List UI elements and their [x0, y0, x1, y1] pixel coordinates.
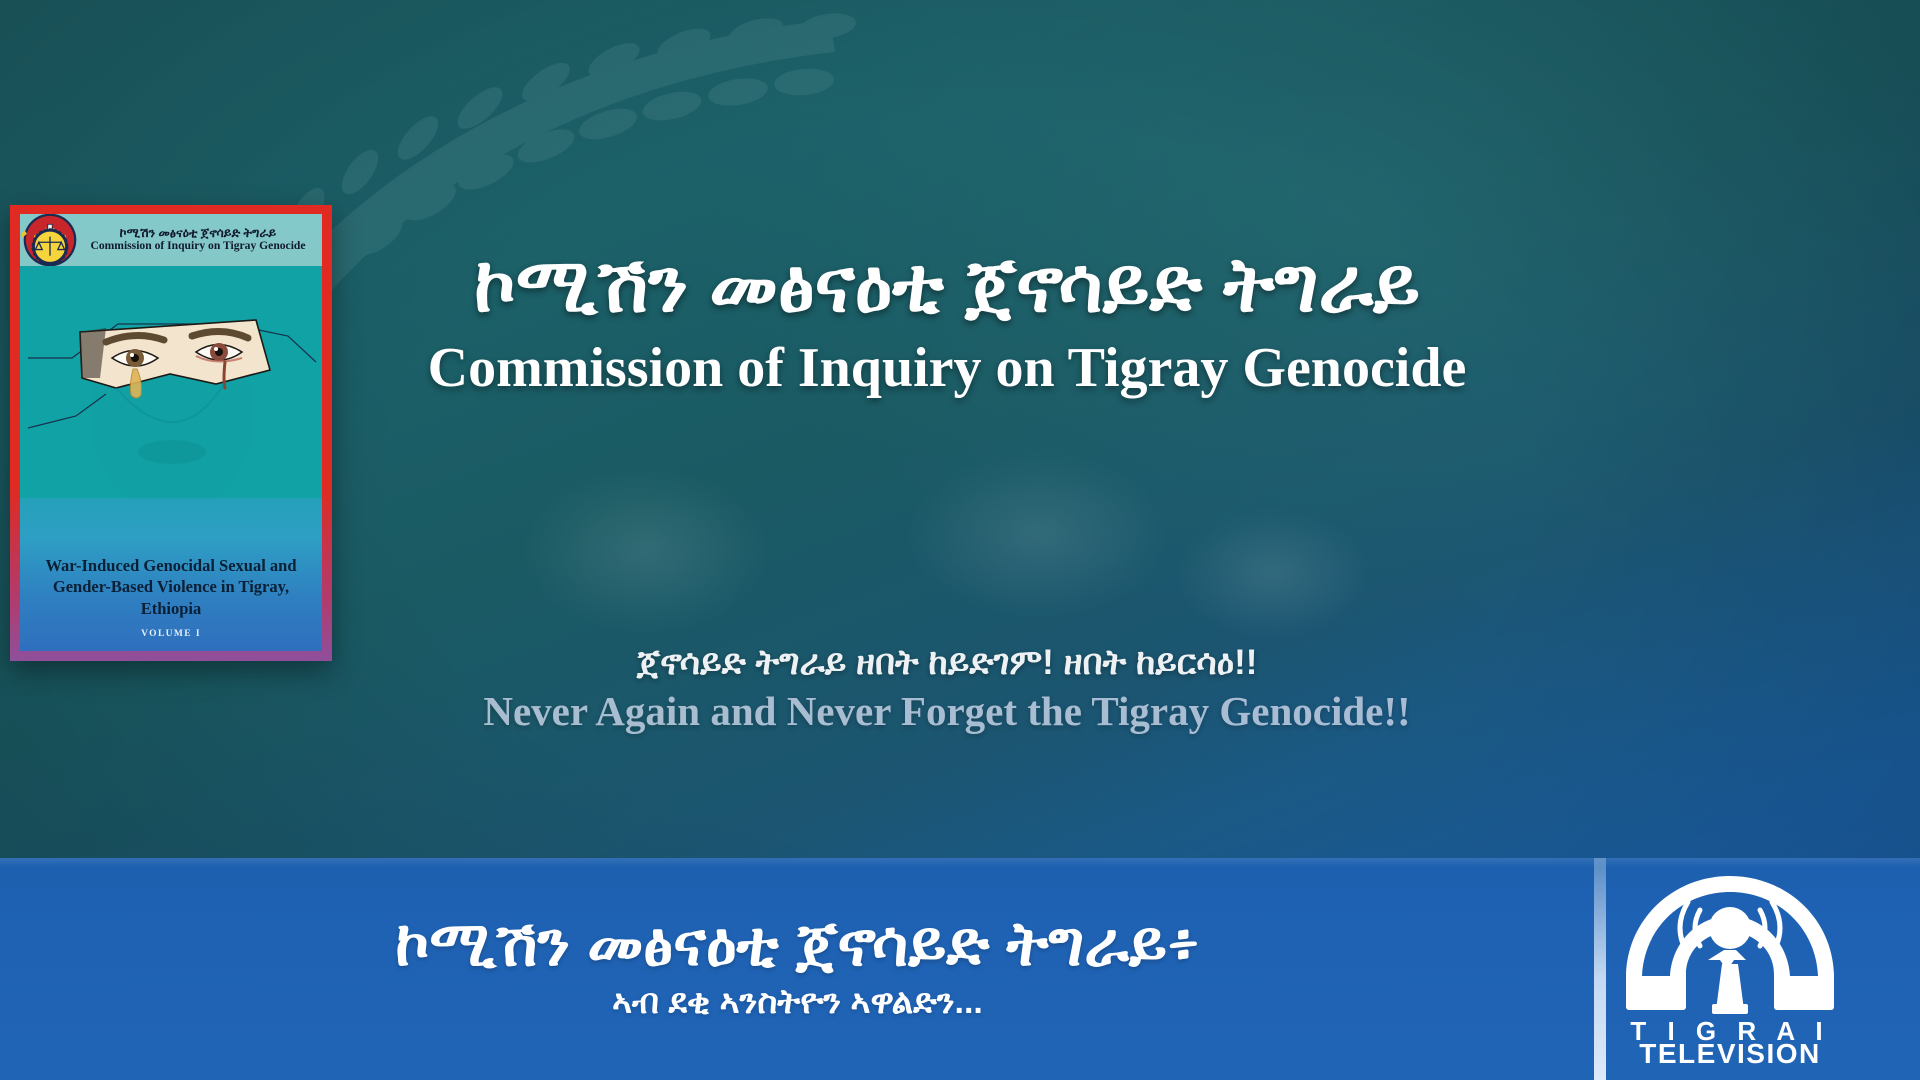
book-banner: ኮሚሽን መፅናዕቲ ጀኖሳይድ ትግራይ Commission of Inqu… — [20, 214, 322, 266]
vertical-divider — [1594, 858, 1606, 1080]
slogan-tigrinya: ጀኖሳይድ ትግራይ ዘበት ከይድገም! ዘበት ከይርሳዕ!! — [352, 645, 1542, 680]
broadcast-frame: ኮሚሽን መፅናዕቲ ጀኖሳይድ ትግራይ Commission of Inqu… — [0, 0, 1920, 1080]
report-book-cover: ኮሚሽን መፅናዕቲ ጀኖሳይድ ትግራይ Commission of Inqu… — [10, 205, 332, 661]
commission-emblem-icon — [22, 214, 78, 268]
caption-line-1: ኮሚሽን መፅናዕቲ ጀኖሳይድ ትግራይ፥ — [395, 912, 1199, 977]
book-cover-illustration — [20, 266, 322, 498]
book-banner-tigrinya: ኮሚሽን መፅናዕቲ ጀኖሳይድ ትግራይ — [76, 227, 320, 240]
main-heading: ኮሚሽን መፅናዕቲ ጀኖሳይድ ትግራይ Commission of Inqu… — [352, 248, 1542, 396]
logo-text-television: TELEVISION — [1639, 1038, 1820, 1066]
lower-third-bar: ኮሚሽን መፅናዕቲ ጀኖሳይድ ትግራይ፥ ኣብ ደቂ ኣንስትዮን ኣዋልድ… — [0, 858, 1920, 1080]
caption-block: ኮሚሽን መፅናዕቲ ጀኖሳይድ ትግራይ፥ ኣብ ደቂ ኣንስትዮን ኣዋልድ… — [0, 858, 1595, 1080]
tigrai-television-logo: T I G R A I TELEVISION — [1612, 870, 1848, 1066]
book-volume: VOLUME I — [20, 629, 322, 639]
heading-tigrinya: ኮሚሽን መፅናዕቲ ጀኖሳይድ ትግራይ — [352, 248, 1542, 324]
slogan-english: Never Again and Never Forget the Tigray … — [352, 691, 1542, 732]
caption-line-2: ኣብ ደቂ ኣንስትዮን ኣዋልድን... — [612, 985, 983, 1021]
slogan-block: ጀኖሳይድ ትግራይ ዘበት ከይድገም! ዘበት ከይርሳዕ!! Never … — [352, 645, 1542, 732]
book-title: War-Induced Genocidal Sexual and Gender-… — [20, 555, 322, 619]
book-banner-english: Commission of Inquiry on Tigray Genocide — [76, 240, 320, 252]
heading-english: Commission of Inquiry on Tigray Genocide — [352, 340, 1542, 396]
